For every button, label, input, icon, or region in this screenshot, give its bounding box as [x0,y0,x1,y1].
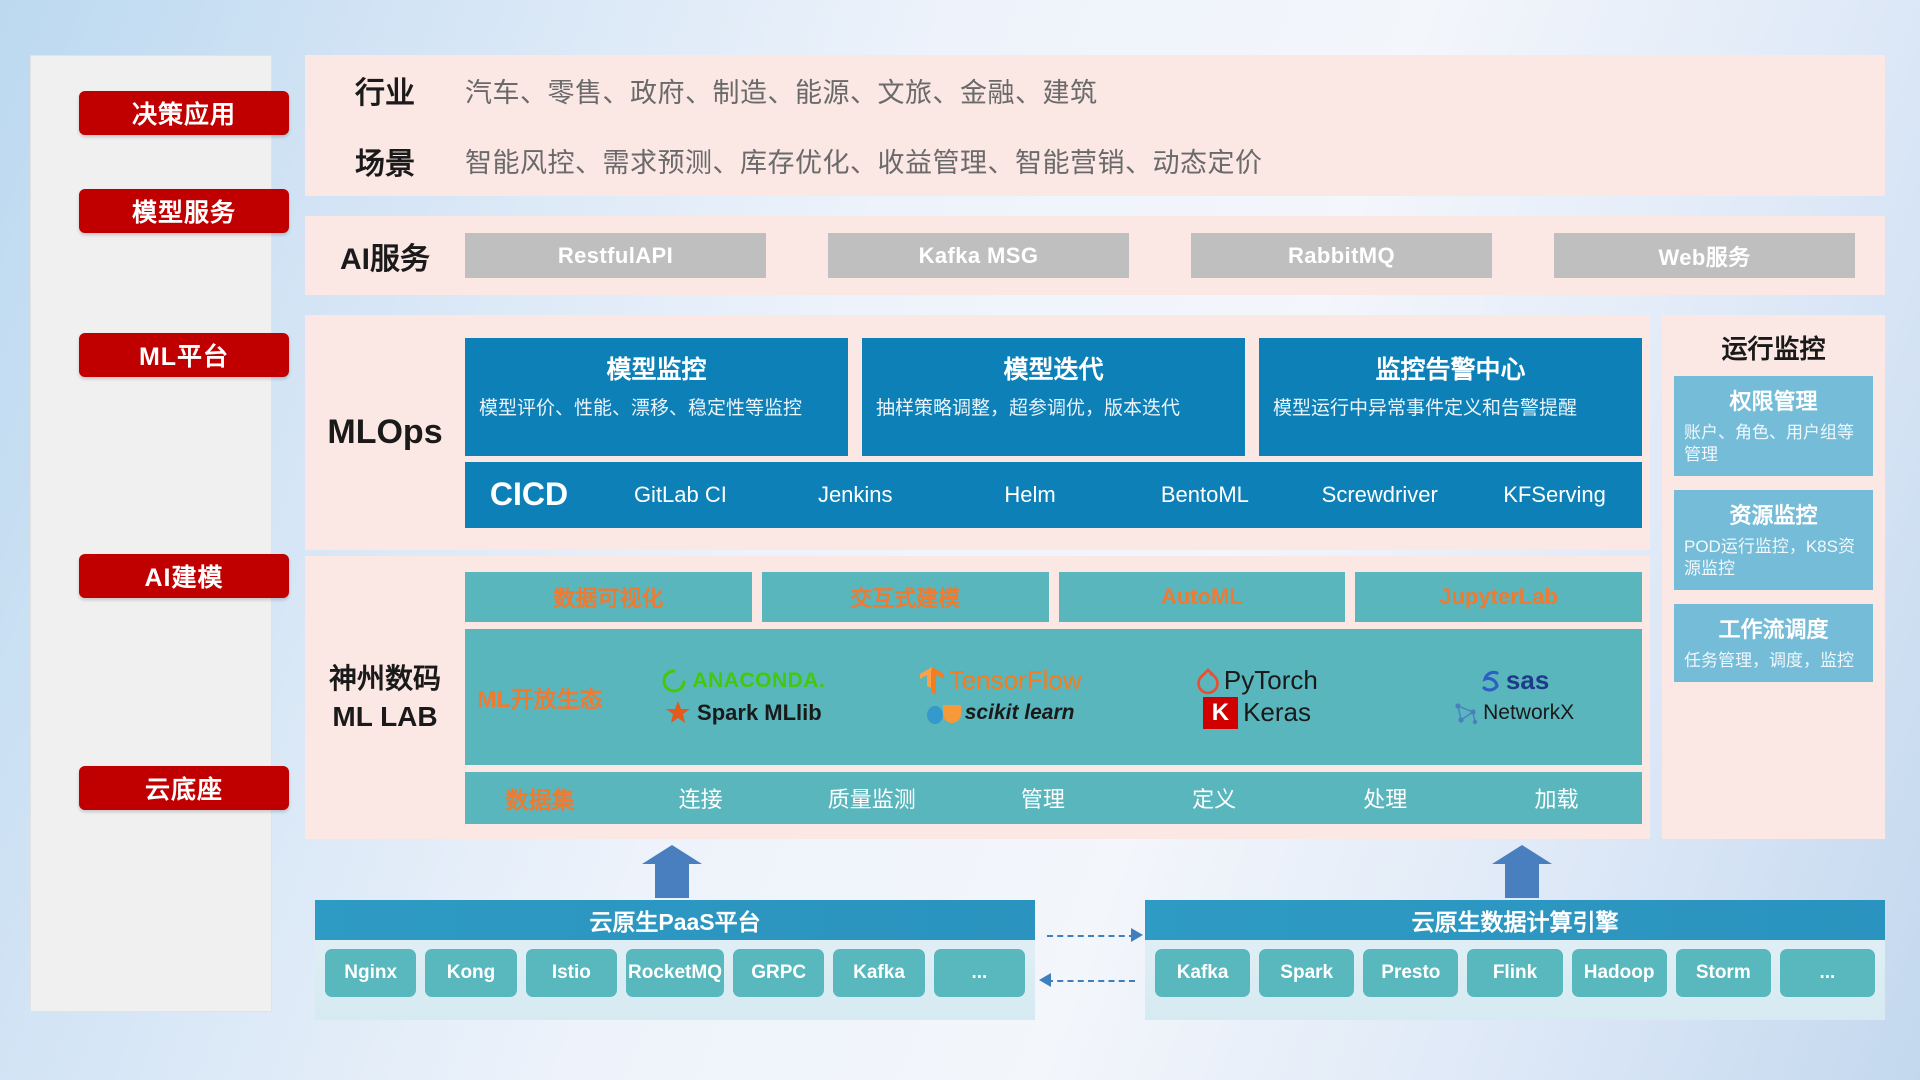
spark-label: Spark MLlib [697,700,822,726]
mllab-label-line1: 神州数码 [329,663,441,694]
paas-chip-grpc[interactable]: GRPC [733,949,824,997]
stage-rail: 决策应用 模型服务 ML平台 AI建模 云底座 [30,55,272,1012]
tensorflow-logo: TensorFlow [919,665,1082,696]
monitoring-card-resource[interactable]: 资源监控 POD运行监控，K8S资源监控 [1674,490,1873,590]
dataset-row: 数据集 连接 质量监测 管理 定义 处理 加载 [465,772,1642,824]
spark-icon [665,700,691,726]
mlops-card-title: 模型监控 [479,350,834,386]
tool-chip-data-visualization[interactable]: 数据可视化 [465,572,752,622]
compute-chip-more[interactable]: ... [1780,949,1875,997]
cicd-item-gitlabci[interactable]: GitLab CI [593,483,768,506]
monitoring-card-desc: 账户、角色、用户组等管理 [1684,422,1863,466]
connector-arrow-left [1039,973,1051,987]
cicd-item-screwdriver[interactable]: Screwdriver [1292,483,1467,506]
stage-chip-decision[interactable]: 决策应用 [79,91,289,135]
compute-chip-kafka[interactable]: Kafka [1155,949,1250,997]
scenario-value: 智能风控、需求预测、库存优化、收益管理、智能营销、动态定价 [465,141,1885,180]
industry-value: 汽车、零售、政府、制造、能源、文旅、金融、建筑 [465,71,1885,110]
paas-panel: 云原生PaaS平台 Nginx Kong Istio RocketMQ GRPC… [315,900,1035,1020]
monitoring-column: 运行监控 权限管理 账户、角色、用户组等管理 资源监控 POD运行监控，K8S资… [1662,315,1885,839]
networkx-icon [1453,700,1479,726]
sas-logo: sas [1478,665,1549,696]
anaconda-icon [661,668,687,694]
scikit-learn-icon [926,699,962,727]
stage-chip-modelserve[interactable]: 模型服务 [79,189,289,233]
paas-chip-istio[interactable]: Istio [526,949,617,997]
scikit-learn-label: scikit learn [965,701,1075,725]
stage-chip-cloudbase[interactable]: 云底座 [79,766,289,810]
networkx-label: NetworkX [1483,701,1574,725]
compute-chip-storm[interactable]: Storm [1676,949,1771,997]
anaconda-logo: ANACONDA. [661,668,825,694]
sas-label: sas [1506,665,1549,696]
keras-logo: K Keras [1203,697,1311,729]
pytorch-icon [1196,667,1220,695]
ml-ecosystem-row: ML开放生态 ANACONDA. [465,629,1642,765]
mlops-card-model-monitoring[interactable]: 模型监控 模型评价、性能、漂移、稳定性等监控 [465,338,848,456]
paas-chip-kafka[interactable]: Kafka [833,949,924,997]
application-band: 行业 汽车、零售、政府、制造、能源、文旅、金融、建筑 场景 智能风控、需求预测、… [305,55,1885,196]
compute-chip-spark[interactable]: Spark [1259,949,1354,997]
networkx-logo: NetworkX [1453,700,1574,726]
scikit-learn-logo: scikit learn [926,699,1075,727]
dataset-item-manage[interactable]: 管理 [957,782,1128,814]
ml-ecosystem-label: ML开放生态 [465,680,615,714]
paas-chip-kong[interactable]: Kong [425,949,516,997]
ai-service-band: AI服务 RestfulAPI Kafka MSG RabbitMQ Web服务 [305,216,1885,295]
mlops-label: MLOps [305,413,465,452]
compute-chip-flink[interactable]: Flink [1467,949,1562,997]
tool-chip-interactive-modeling[interactable]: 交互式建模 [762,572,1049,622]
tensorflow-icon [919,666,945,696]
architecture-diagram: 决策应用 模型服务 ML平台 AI建模 云底座 行业 汽车、零售、政府、制造、能… [0,0,1920,1080]
monitoring-card-title: 工作流调度 [1684,612,1863,644]
tensorflow-label: TensorFlow [949,665,1082,696]
stage-chip-mlplatform[interactable]: ML平台 [79,333,289,377]
connector-arrow-right [1131,928,1143,942]
connector-line-right [1047,935,1135,937]
arrow-up-compute [1505,862,1539,898]
keras-icon: K [1203,697,1238,729]
modeling-band: 神州数码 ML LAB 数据可视化 交互式建模 AutoML JupyterLa… [305,556,1650,839]
service-chip-webservice[interactable]: Web服务 [1554,233,1855,278]
spark-mllib-logo: Spark MLlib [665,700,822,726]
mllab-label-line2: ML LAB [332,701,437,732]
mlops-card-alert-center[interactable]: 监控告警中心 模型运行中异常事件定义和告警提醒 [1259,338,1642,456]
monitoring-card-workflow[interactable]: 工作流调度 任务管理，调度，监控 [1674,604,1873,682]
paas-chip-rocketmq[interactable]: RocketMQ [626,949,724,997]
paas-title: 云原生PaaS平台 [315,900,1035,940]
mlops-card-desc: 模型评价、性能、漂移、稳定性等监控 [479,396,834,422]
tool-chip-automl[interactable]: AutoML [1059,572,1346,622]
dataset-item-load[interactable]: 加载 [1471,782,1642,814]
service-chip-kafkamsg[interactable]: Kafka MSG [828,233,1129,278]
monitoring-card-title: 权限管理 [1684,384,1863,416]
ai-service-label: AI服务 [305,234,465,278]
mlops-band: MLOps 模型监控 模型评价、性能、漂移、稳定性等监控 模型迭代 抽样策略调整… [305,315,1650,550]
mlops-card-model-iteration[interactable]: 模型迭代 抽样策略调整，超参调优，版本迭代 [862,338,1245,456]
cicd-bar: CICD GitLab CI Jenkins Helm BentoML Scre… [465,462,1642,528]
monitoring-card-desc: POD运行监控，K8S资源监控 [1684,536,1863,580]
mlops-card-title: 监控告警中心 [1273,350,1628,386]
cicd-item-kfserving[interactable]: KFServing [1467,483,1642,506]
cicd-item-jenkins[interactable]: Jenkins [768,483,943,506]
paas-chip-more[interactable]: ... [934,949,1025,997]
anaconda-label: ANACONDA. [692,669,825,693]
dataset-label: 数据集 [465,781,615,815]
tool-chip-jupyterlab[interactable]: JupyterLab [1355,572,1642,622]
cicd-item-helm[interactable]: Helm [943,483,1118,506]
dataset-item-process[interactable]: 处理 [1300,782,1471,814]
dataset-item-quality[interactable]: 质量监测 [786,782,957,814]
pytorch-label: PyTorch [1224,665,1318,696]
service-chip-restfulapi[interactable]: RestfulAPI [465,233,766,278]
mlops-card-desc: 模型运行中异常事件定义和告警提醒 [1273,396,1628,422]
mlops-card-title: 模型迭代 [876,350,1231,386]
stage-chip-aimodeling[interactable]: AI建模 [79,554,289,598]
mlops-card-desc: 抽样策略调整，超参调优，版本迭代 [876,396,1231,422]
keras-label: Keras [1243,697,1311,728]
monitoring-card-desc: 任务管理，调度，监控 [1684,650,1863,672]
monitoring-card-title: 资源监控 [1684,498,1863,530]
monitoring-card-permission[interactable]: 权限管理 账户、角色、用户组等管理 [1674,376,1873,476]
compute-chip-hadoop[interactable]: Hadoop [1572,949,1667,997]
sas-icon [1478,668,1504,694]
compute-title: 云原生数据计算引擎 [1145,900,1885,940]
connector-line-left [1047,980,1135,982]
paas-chip-nginx[interactable]: Nginx [325,949,416,997]
scenario-label: 场景 [305,139,465,183]
cloud-foundation: 云原生PaaS平台 Nginx Kong Istio RocketMQ GRPC… [305,880,1885,1040]
mllab-label: 神州数码 ML LAB [305,660,465,736]
monitoring-title: 运行监控 [1662,315,1885,376]
pytorch-logo: PyTorch [1196,665,1318,696]
arrow-up-paas [655,862,689,898]
service-chip-rabbitmq[interactable]: RabbitMQ [1191,233,1492,278]
dataset-item-connect[interactable]: 连接 [615,782,786,814]
dataset-item-define[interactable]: 定义 [1129,782,1300,814]
compute-panel: 云原生数据计算引擎 Kafka Spark Presto Flink Hadoo… [1145,900,1885,1020]
cicd-title: CICD [465,476,593,513]
industry-label: 行业 [305,68,465,112]
compute-chip-presto[interactable]: Presto [1363,949,1458,997]
cicd-item-bentoml[interactable]: BentoML [1117,483,1292,506]
